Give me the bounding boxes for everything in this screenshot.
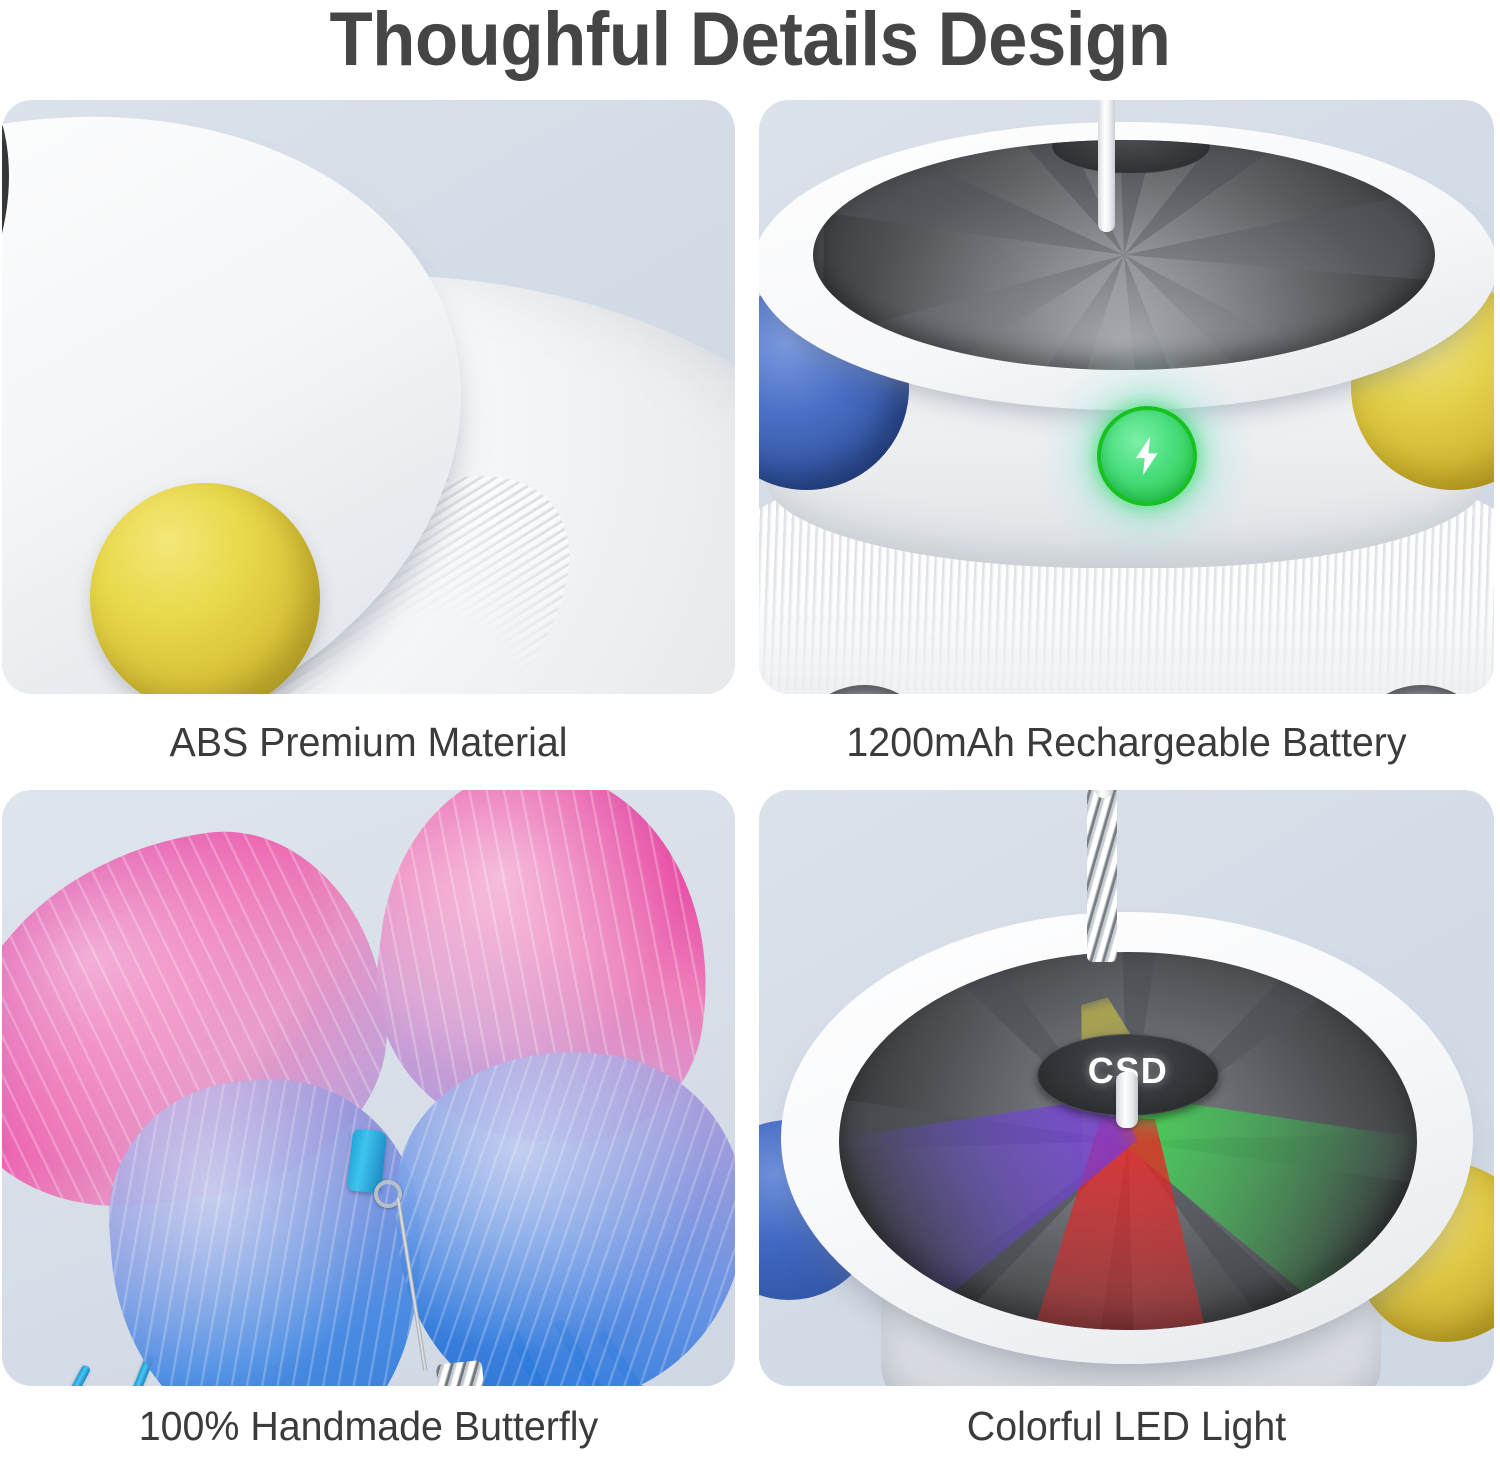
- feature-image-handmade-butterfly: [2, 790, 735, 1386]
- feature-card-rechargeable-battery: CSD 1200mAh Rechargeable Battery: [759, 100, 1494, 694]
- charge-indicator: [1097, 406, 1197, 506]
- toy-base-body: [2, 275, 735, 694]
- page-title: Thoughful Details Design: [53, 0, 1448, 86]
- feature-caption-colorful-led-light: Colorful LED Light: [774, 1402, 1480, 1450]
- feature-caption-rechargeable-battery: 1200mAh Rechargeable Battery: [774, 718, 1480, 766]
- feature-caption-handmade-butterfly: 100% Handmade Butterfly: [17, 1402, 721, 1450]
- product-infographic: Thoughful Details Design: [0, 0, 1500, 1462]
- feature-grid: ABS Premium Material: [2, 100, 1494, 1390]
- brand-logo: CSD: [1075, 140, 1185, 141]
- ball-track: [7, 395, 427, 694]
- led-stage: CSD: [759, 790, 1494, 1386]
- butterfly-stage: [2, 790, 735, 1386]
- turntable-dome: CSD: [813, 140, 1435, 370]
- feature-image-rechargeable-battery: CSD: [759, 100, 1494, 694]
- wand-rod: [1098, 100, 1115, 232]
- ribbon-streamer: [18, 1364, 92, 1386]
- feature-card-abs-premium-material: ABS Premium Material: [2, 100, 735, 694]
- spring-coil: [1087, 790, 1117, 962]
- lightning-bolt-icon: [1124, 433, 1170, 479]
- feature-card-colorful-led-light: CSD Colorful LED Light: [759, 790, 1494, 1386]
- feature-card-handmade-butterfly: 100% Handmade Butterfly: [2, 790, 735, 1386]
- feature-image-colorful-led-light: CSD: [759, 790, 1494, 1386]
- device-stage: CSD: [759, 100, 1494, 694]
- feature-caption-abs-premium-material: ABS Premium Material: [17, 718, 721, 766]
- white-rim: CSD: [781, 912, 1473, 1364]
- yellow-ball: [90, 483, 320, 694]
- led-turntable-disc: CSD: [839, 952, 1417, 1330]
- wand-tip: [1116, 1072, 1138, 1128]
- feature-image-abs-premium-material: [2, 100, 735, 694]
